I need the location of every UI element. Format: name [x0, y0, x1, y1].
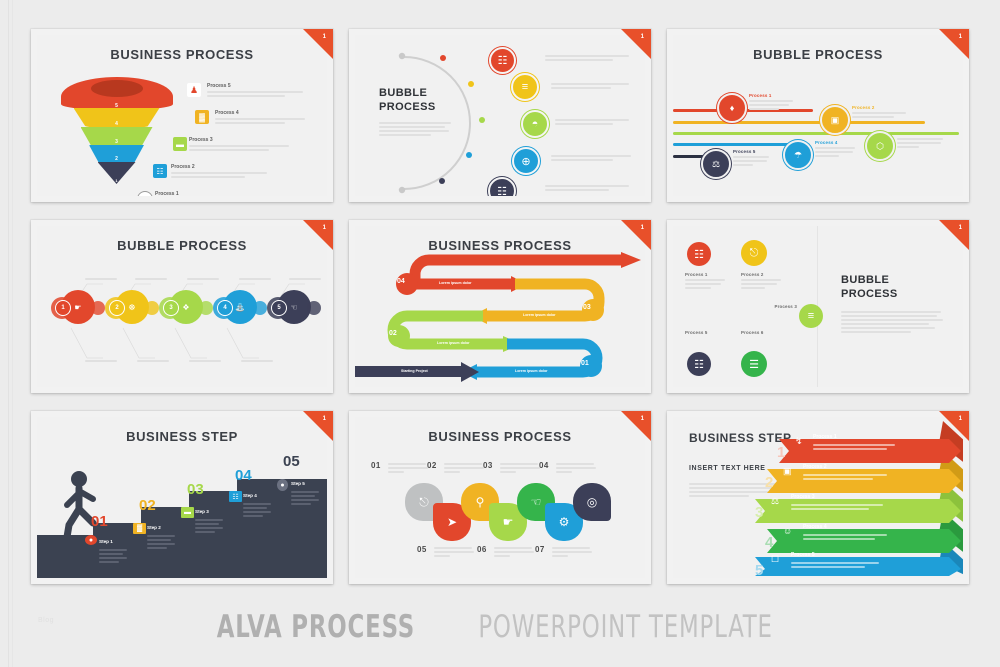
text-line: [147, 543, 175, 545]
list-item[interactable]: Process 5: [685, 330, 729, 335]
text-line: [243, 503, 271, 505]
text-line: [434, 547, 472, 549]
projector-icon[interactable]: ▣: [783, 466, 792, 477]
slide-stairs[interactable]: BUSINESS STEP 01 02: [31, 411, 333, 584]
process-label: Process 5: [733, 149, 773, 154]
slide-banners[interactable]: BUSINESS STEP INSERT TEXT HERE: [667, 411, 969, 584]
grid-title-block: BUBBLE PROCESS: [841, 274, 945, 335]
diamond-number-06: 06: [477, 545, 487, 554]
template-preview-page: BUSINESS PROCESS 5 4 3 2 1 ♟ Process 5: [0, 0, 1000, 667]
process-line-2: [673, 121, 925, 124]
funnel-layer-4: 4: [74, 108, 160, 128]
text-line: [239, 278, 271, 280]
arc-title-block: BUBBLE PROCESS: [379, 87, 459, 138]
diamond-text-07: [552, 545, 594, 559]
chain-bubble-small: [145, 301, 159, 315]
text-line: [803, 534, 887, 536]
chain-caption-bottom-2: [137, 358, 171, 364]
text-line: [813, 444, 895, 446]
text-line: [741, 287, 765, 289]
text-line: [791, 508, 869, 510]
text-line: [841, 311, 941, 313]
text-line: [803, 474, 887, 476]
text-line: [85, 278, 117, 280]
text-line: [444, 471, 460, 473]
diamond-text-04: [556, 461, 598, 475]
chain-bubble-small: [199, 301, 213, 315]
step-label-2: Step 2: [147, 525, 161, 530]
ribbon-label: 1: [323, 34, 326, 40]
text-line: [841, 315, 937, 317]
step-text-2: [147, 533, 177, 551]
process-label: Process 6: [741, 330, 785, 335]
corner-ribbon: 1: [621, 220, 651, 250]
text-line: [545, 55, 629, 57]
funnel-layer-2: 2: [89, 145, 144, 163]
text-line: [897, 146, 919, 148]
ribbon-label: 1: [641, 225, 644, 231]
chain-caption-bottom-4: [241, 358, 275, 364]
process-line-4: [673, 143, 797, 146]
slide-bubble-arc[interactable]: BUBBLE PROCESS ☷ ≡: [349, 29, 651, 202]
text-line: [388, 467, 428, 469]
process-label: Process 1: [685, 272, 729, 277]
banner-label-1: Process 1: [813, 434, 837, 440]
slide-diamonds[interactable]: BUSINESS PROCESS 01 02 03: [349, 411, 651, 584]
text-line: [545, 189, 609, 191]
list-item[interactable]: Process 2: [741, 272, 785, 291]
text-line: [189, 149, 269, 151]
text-line: [841, 327, 935, 329]
arc-caption-3: [555, 117, 629, 127]
text-line: [815, 147, 855, 149]
corner-ribbon: 1: [939, 29, 969, 59]
process-label: Process 4: [815, 140, 859, 145]
corner-ribbon: 1: [303, 29, 333, 59]
arc-dot-3: [479, 117, 485, 123]
tv-icon[interactable]: ▣: [820, 105, 850, 135]
text-line: [552, 555, 568, 557]
list-item[interactable]: Process 1: [685, 272, 729, 291]
arc-dot-2: [468, 81, 474, 87]
ribbon-label: 1: [323, 416, 326, 422]
legend-label: Process 4: [215, 110, 327, 116]
list-icon[interactable]: ≡: [799, 304, 823, 328]
text-line: [147, 539, 171, 541]
text-line: [291, 503, 311, 505]
text-line: [551, 159, 613, 161]
text-line: [99, 561, 119, 563]
corner-ribbon: 1: [303, 220, 333, 250]
ribbon-label: 1: [959, 225, 962, 231]
funnel-layer-number: 1: [115, 178, 117, 183]
text-line: [689, 495, 749, 497]
step-number-03: 03: [187, 481, 204, 498]
diamond-text-03: [500, 461, 542, 475]
group-icon: ♟: [187, 83, 201, 97]
slide-title: BUSINESS PROCESS: [355, 429, 645, 444]
text-line: [733, 160, 767, 162]
satellite-icon[interactable]: ↯: [795, 436, 803, 447]
text-line: [733, 156, 769, 158]
list-item[interactable]: ▓ Process 4: [187, 110, 327, 128]
text-line: [189, 145, 289, 147]
step-text-4: [243, 501, 273, 519]
ribbon-triangle: [621, 220, 651, 250]
text-line: [552, 547, 590, 549]
slide-title: BUSINESS PROCESS: [37, 47, 327, 62]
text-line: [791, 504, 883, 506]
chain-bubble-small: [307, 301, 321, 315]
text-line: [291, 491, 319, 493]
slide-title-line2: PROCESS: [841, 288, 945, 302]
funnel-layer-number: 2: [115, 156, 118, 162]
funnel-layer-number: 4: [115, 121, 118, 127]
funnel-layer-number: 3: [115, 139, 118, 145]
diamond-icon[interactable]: ♦: [717, 93, 747, 123]
text-line: [749, 108, 779, 110]
text-line: [243, 507, 267, 509]
chain-caption-top-3: [187, 276, 221, 282]
bubble-chain: ☛ 1 ☸ 2 ❖ 3 ⛲ 4: [47, 288, 327, 330]
svg-text:3: 3: [755, 504, 763, 521]
snake-number-01: 01: [581, 360, 589, 367]
footer-title: ALVA PROCESSPOWERPOINT TEMPLATE: [0, 609, 1000, 645]
ribbon-triangle: [939, 29, 969, 59]
text-line: [749, 104, 789, 106]
text-line: [841, 319, 943, 321]
step-label-3: Step 3: [195, 509, 209, 514]
text-line: [171, 172, 267, 174]
chain-number-2: 2: [109, 300, 125, 316]
text-line: [685, 283, 721, 285]
text-line: [189, 360, 221, 362]
scales-icon[interactable]: ⚖: [701, 149, 731, 179]
diamond-number-05: 05: [417, 545, 427, 554]
text-line: [500, 463, 538, 465]
scales-icon[interactable]: ⚖: [771, 496, 779, 507]
lightbulb-icon: ○: [137, 191, 153, 196]
text-line: [147, 547, 167, 549]
text-line: [379, 134, 431, 136]
step-label-1: Step 1: [99, 539, 113, 544]
slide-bubble-chain[interactable]: BUBBLE PROCESS: [31, 220, 333, 393]
corner-ribbon: 1: [303, 411, 333, 441]
step-text-3: [195, 517, 225, 535]
chain-caption-bottom-3: [189, 358, 223, 364]
banner-label-3: Process 3: [791, 494, 815, 500]
ribbon-triangle: [303, 411, 333, 441]
corner-ribbon: 1: [939, 411, 969, 441]
snake-label-03: Lorem ipsum dolor: [523, 313, 556, 317]
chain-caption-top-1: [85, 276, 119, 282]
text-line: [556, 467, 596, 469]
ribbon-label: 1: [323, 225, 326, 231]
diamond-number-07: 07: [535, 545, 545, 554]
list-item[interactable]: Process 1: [749, 93, 797, 112]
text-line: [137, 360, 169, 362]
text-line: [815, 155, 839, 157]
stair-2: [141, 507, 327, 525]
banner-text-2: [803, 472, 891, 482]
text-line: [388, 471, 404, 473]
svg-text:4: 4: [765, 534, 774, 551]
text-line: [195, 523, 219, 525]
globe-icon[interactable]: ⊕: [512, 147, 540, 175]
text-line: [552, 551, 592, 553]
briefcase-icon[interactable]: ▬: [181, 507, 194, 518]
slide-title: BUBBLE PROCESS: [673, 47, 963, 62]
text-line: [685, 279, 725, 281]
store-icon[interactable]: ☷: [489, 47, 516, 74]
funnel-legend: ♟ Process 5 ▓ Process 4 ▬ Process 3: [187, 83, 327, 196]
arc-dot-4: [466, 152, 472, 158]
list-item[interactable]: ▬ Process 3: [173, 137, 327, 155]
text-line: [379, 126, 445, 128]
chain-number-4: 4: [217, 300, 233, 316]
ribbon-label: 1: [641, 34, 644, 40]
banner-label-4: Process 4: [803, 524, 827, 530]
chain-caption-top-5: [289, 276, 323, 282]
svg-text:2: 2: [765, 474, 773, 491]
text-line: [551, 155, 631, 157]
list-item[interactable]: Process 5: [733, 149, 773, 168]
step-label-5: Step 5: [291, 481, 305, 486]
arc-dot-5: [439, 178, 445, 184]
diamond-number-04: 04: [539, 461, 549, 470]
clipboard-icon[interactable]: ☰: [741, 351, 767, 377]
text-line: [195, 531, 215, 533]
process-label: Process 1: [749, 93, 797, 98]
text-line: [379, 130, 449, 132]
list-item[interactable]: Process 6: [741, 330, 785, 335]
text-line: [741, 283, 777, 285]
chain-bubble-small: [253, 301, 267, 315]
arc-caption-5: [545, 183, 629, 193]
process-label: Process 3: [897, 131, 947, 136]
text-line: [444, 463, 482, 465]
ribbon-triangle: [303, 220, 333, 250]
arc-caption-2: [551, 81, 629, 91]
chain-caption-top-2: [135, 276, 169, 282]
list-item[interactable]: Process 3: [897, 131, 947, 150]
text-line: [551, 87, 611, 89]
chat-icon[interactable]: ◓: [521, 110, 549, 138]
slide-grid: BUSINESS PROCESS 5 4 3 2 1 ♟ Process 5: [31, 29, 971, 589]
snake-number-03: 03: [583, 304, 591, 311]
step-number-04: 04: [235, 467, 252, 484]
list-item[interactable]: ♟ Process 5: [187, 83, 327, 101]
text-line: [379, 122, 451, 124]
arc-dot-1: [440, 55, 446, 61]
chain-bubble-small: [91, 301, 105, 315]
text-line: [545, 59, 613, 61]
text-line: [897, 142, 941, 144]
text-line: [815, 151, 853, 153]
ribbon-triangle: [939, 220, 969, 250]
starting-project-label: Starting Project: [401, 369, 428, 373]
text-line: [741, 279, 781, 281]
legend-label: Process 3: [189, 137, 327, 143]
process-label: Process 3: [769, 304, 797, 309]
step-number-02: 02: [139, 497, 156, 514]
text-line: [494, 555, 510, 557]
slide-snake-arrows[interactable]: BUSINESS PROCESS: [349, 220, 651, 393]
text-line: [207, 91, 303, 93]
text-line: [207, 95, 285, 97]
funnel-layer-1: 1: [98, 162, 136, 184]
list-item[interactable]: Process 3: [769, 304, 797, 309]
calendar-icon: ☷: [153, 164, 167, 178]
text-line: [803, 538, 875, 540]
store-icon[interactable]: ☷: [687, 242, 711, 266]
step-number-05: 05: [283, 453, 300, 470]
slide-title-line1: BUBBLE: [841, 274, 945, 288]
diamond-number-03: 03: [483, 461, 493, 470]
text-line: [556, 471, 572, 473]
process-label: Process 5: [685, 330, 729, 335]
chain-number-1: 1: [55, 300, 71, 316]
walking-person-icon: [59, 469, 109, 541]
text-line: [685, 287, 711, 289]
text-line: [99, 549, 127, 551]
text-line: [494, 547, 532, 549]
chart-icon[interactable]: ▓: [133, 523, 146, 534]
step-text-1: [99, 547, 129, 565]
text-line: [813, 448, 887, 450]
text-line: [215, 122, 285, 124]
process-label: Process 2: [852, 105, 910, 110]
slide-title: BUSINESS STEP: [37, 429, 327, 444]
list-item[interactable]: Process 2: [852, 105, 910, 120]
text-line: [434, 555, 450, 557]
text-line: [85, 360, 117, 362]
text-line: [147, 535, 175, 537]
snake-arrow-graphic: [355, 226, 645, 387]
briefcase-icon: ▬: [173, 137, 187, 151]
slide-funnel[interactable]: BUSINESS PROCESS 5 4 3 2 1 ♟ Process 5: [31, 29, 333, 202]
text-line: [555, 123, 613, 125]
text-line: [852, 116, 894, 118]
text-line: [195, 519, 223, 521]
legend-label: Process 1: [155, 191, 327, 196]
list-icon[interactable]: ≡: [511, 73, 539, 101]
text-line: [749, 100, 793, 102]
text-line: [243, 511, 271, 513]
banner-text-3: [791, 502, 887, 512]
snake-label-01: Lorem ipsum dolor: [515, 369, 548, 373]
process-label: Process 2: [741, 272, 785, 277]
search-icon[interactable]: ⎋: [741, 240, 767, 266]
text-line: [99, 553, 123, 555]
snake-number-04: 04: [397, 278, 405, 285]
diamond-text-06: [494, 545, 536, 559]
funnel-layer-5: 5: [61, 77, 173, 110]
text-line: [841, 323, 929, 325]
banner-text-4: [803, 532, 891, 542]
funnel-hole: [91, 80, 143, 97]
text-line: [733, 164, 753, 166]
list-item[interactable]: ○ Process 1: [137, 191, 327, 196]
cap-icon[interactable]: ●: [85, 535, 97, 545]
diamond-number-02: 02: [427, 461, 437, 470]
list-item[interactable]: ☷ Process 2: [153, 164, 327, 182]
cart-icon[interactable]: ⬡: [865, 131, 895, 161]
arc-caption-1: [545, 53, 629, 63]
camera-icon[interactable]: ◎: [573, 483, 611, 521]
text-line: [551, 83, 629, 85]
ribbon-triangle: [939, 411, 969, 441]
text-line: [388, 463, 426, 465]
diamond-text-01: [388, 461, 430, 475]
slide-bubble-grid[interactable]: ☷ ⎋ ≡ ☷ ☰ Process 1 Process 2: [667, 220, 969, 393]
text-line: [555, 119, 629, 121]
text-line: [171, 176, 245, 178]
slide-title-line2: PROCESS: [379, 101, 459, 115]
chain-number-5: 5: [271, 300, 287, 316]
monitor-icon[interactable]: ☐: [771, 554, 779, 565]
robot-icon[interactable]: ☺: [783, 526, 792, 536]
legend-label: Process 5: [207, 83, 327, 89]
text-line: [195, 527, 223, 529]
ribbon-triangle: [621, 411, 651, 441]
ribbon-label: 1: [641, 416, 644, 422]
text-line: [289, 278, 321, 280]
text-line: [444, 467, 484, 469]
funnel-layer-3: 3: [81, 127, 153, 146]
text-line: [791, 562, 879, 564]
list-item[interactable]: Process 4: [815, 140, 859, 159]
ribbon-label: 1: [959, 34, 962, 40]
diamond-text-02: [444, 461, 486, 475]
stair-base: [37, 535, 327, 578]
chain-caption-bottom-1: [85, 358, 119, 364]
step-text-5: [291, 489, 321, 507]
text-line: [99, 557, 127, 559]
text-line: [135, 278, 167, 280]
text-line: [434, 551, 474, 553]
text-line: [291, 495, 315, 497]
step-label-4: Step 4: [243, 493, 257, 498]
text-line: [500, 471, 516, 473]
text-line: [852, 112, 906, 114]
snake-label-04: Lorem ipsum dolor: [439, 281, 472, 285]
ribbon-triangle: [621, 29, 651, 59]
text-line: [897, 138, 943, 140]
calendar-icon[interactable]: ☷: [229, 491, 242, 502]
banner-label-5: Process 5: [791, 552, 815, 558]
diamond-text-05: [434, 545, 476, 559]
text-line: [187, 278, 219, 280]
pin-icon[interactable]: ●: [277, 479, 288, 491]
ribbon-label: 1: [959, 416, 962, 422]
text-line: [243, 515, 263, 517]
banner-text-1: [813, 442, 899, 452]
umbrella-icon[interactable]: ☂: [783, 140, 813, 170]
arc-caption-4: [551, 153, 631, 163]
calendar-icon[interactable]: ☷: [687, 352, 711, 376]
diamond-number-01: 01: [371, 461, 381, 470]
svg-text:1: 1: [777, 444, 785, 461]
chain-number-3: 3: [163, 300, 179, 316]
slide-title-line1: BUBBLE: [379, 87, 459, 101]
banner-label-2: Process 2: [803, 464, 827, 470]
bar-chart-icon: ▓: [195, 110, 209, 124]
slide-bubble-lines[interactable]: BUBBLE PROCESS ♦ ▣ ⬡ ☂ ⚖ Process 1: [667, 29, 969, 202]
banner-text-5: [791, 560, 883, 570]
text-line: [556, 463, 594, 465]
svg-text:5: 5: [755, 562, 763, 576]
